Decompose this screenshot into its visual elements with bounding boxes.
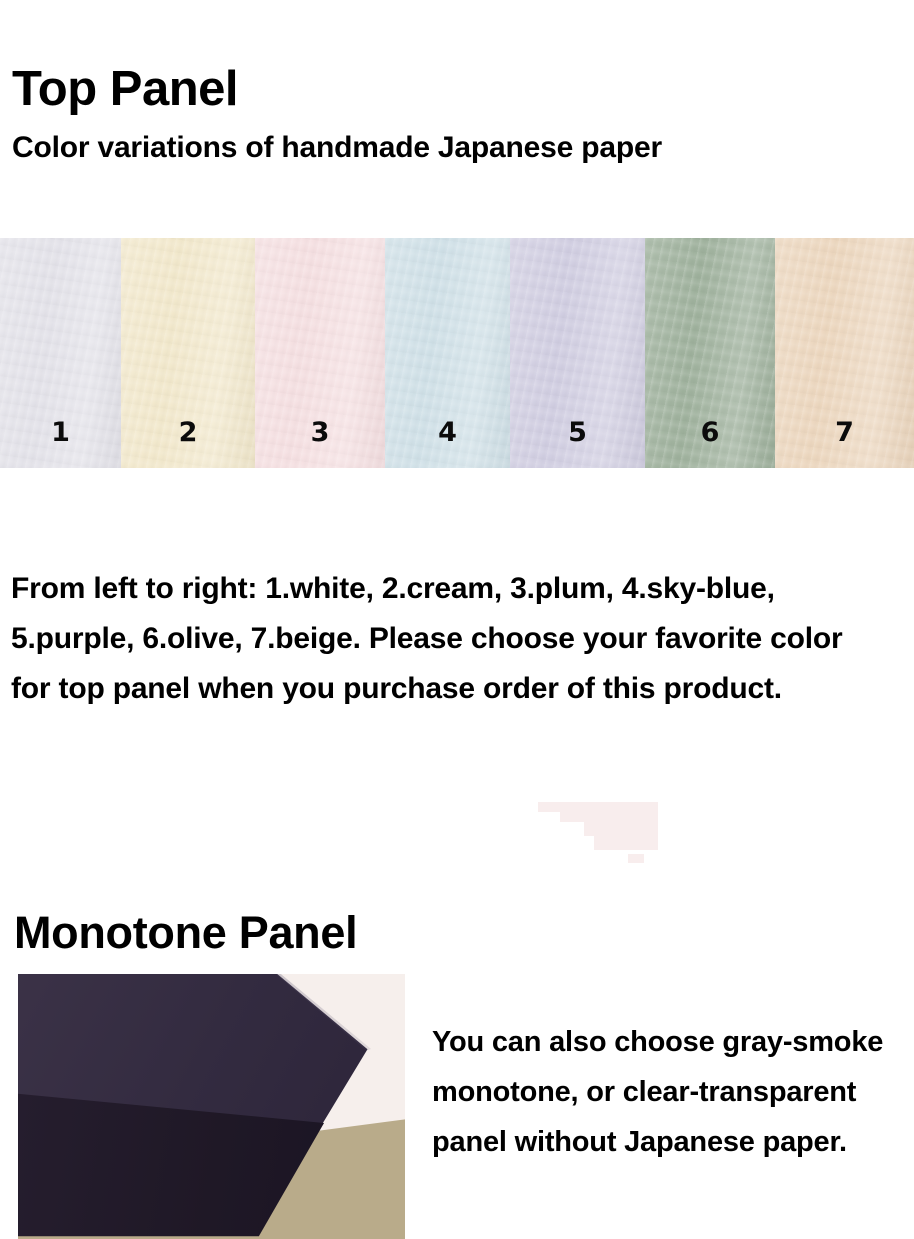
swatch-number-label: 4	[385, 419, 510, 446]
swatch-2-cream[interactable]: 2	[121, 238, 255, 468]
swatch-number-label: 7	[775, 419, 914, 446]
swatch-number-label: 2	[121, 419, 255, 446]
top-panel-subtitle: Color variations of handmade Japanese pa…	[12, 133, 662, 163]
monotone-panel-photo	[10, 966, 405, 1239]
page-title: Top Panel	[12, 65, 238, 114]
swatch-number-label: 5	[510, 419, 645, 446]
swatch-4-sky-blue[interactable]: 4	[385, 238, 510, 468]
swatch-7-beige[interactable]: 7	[775, 238, 914, 468]
swatch-number-label: 1	[0, 419, 121, 446]
monotone-panel-title: Monotone Panel	[14, 910, 357, 955]
swatch-6-olive[interactable]: 6	[645, 238, 775, 468]
swatch-number-label: 6	[645, 419, 775, 446]
monotone-panel-description: You can also choose gray-smoke monotone,…	[432, 1017, 906, 1167]
photo-margin-top	[10, 966, 405, 974]
swatch-3-plum[interactable]: 3	[255, 238, 385, 468]
color-swatch-strip: 1 2 3 4 5 6 7	[0, 238, 914, 468]
top-panel-description: From left to right: 1.white, 2.cream, 3.…	[11, 564, 851, 714]
faint-scan-artifact	[538, 798, 658, 863]
swatch-5-purple[interactable]: 5	[510, 238, 645, 468]
photo-margin-left	[10, 966, 18, 1239]
swatch-number-label: 3	[255, 419, 385, 446]
swatch-1-white[interactable]: 1	[0, 238, 121, 468]
